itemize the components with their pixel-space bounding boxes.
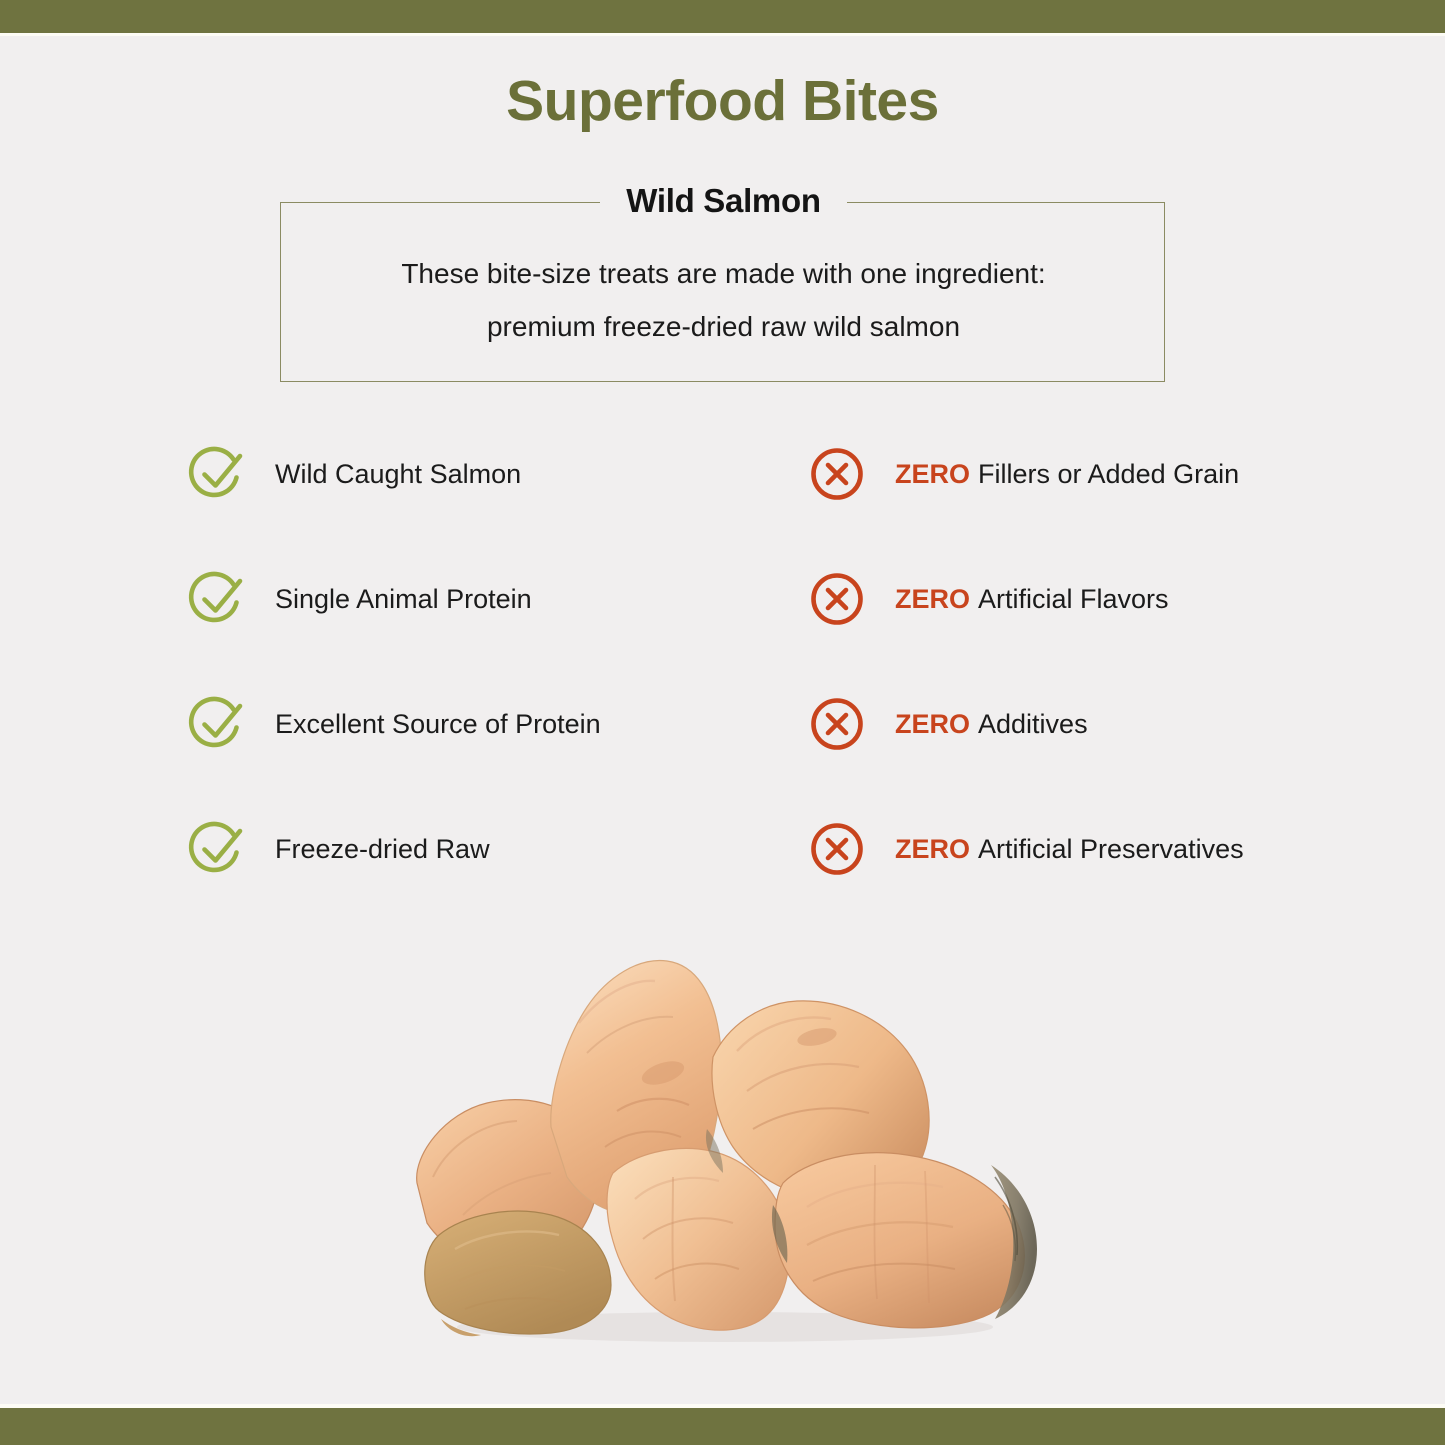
x-circle-icon [806,693,868,755]
list-item-text: Artificial Preservatives [978,834,1244,865]
list-item: ZERO Additives [806,690,1426,815]
description-line-2: premium freeze-dried raw wild salmon [281,300,1166,353]
x-circle-icon [806,818,868,880]
flavor-title-wrap: Wild Salmon [281,179,1166,223]
check-circle-icon [186,818,248,880]
list-item: ZERO Fillers or Added Grain [806,440,1426,565]
description-box: Wild Salmon These bite-size treats are m… [280,202,1165,382]
check-circle-icon [186,693,248,755]
infographic-page: Superfood Bites Wild Salmon These bite-s… [0,0,1445,1445]
check-circle-icon [186,443,248,505]
list-item-label: ZERO Fillers or Added Grain [895,440,1239,508]
list-item: Wild Caught Salmon [186,440,806,565]
list-item-text: Fillers or Added Grain [978,459,1239,490]
top-accent-bar [0,0,1445,33]
positive-feature-column: Wild Caught Salmon Single Animal Protein [186,440,806,940]
list-item-label: ZERO Artificial Flavors [895,565,1169,633]
list-item-label: ZERO Additives [895,690,1088,758]
list-item: Single Animal Protein [186,565,806,690]
description-text: These bite-size treats are made with one… [281,247,1166,353]
list-item-label: ZERO Artificial Preservatives [895,815,1244,883]
list-item-label: Excellent Source of Protein [275,690,601,758]
check-circle-icon [186,568,248,630]
zero-emphasis: ZERO [895,584,970,615]
zero-emphasis: ZERO [895,709,970,740]
list-item-text: Additives [978,709,1088,740]
negative-feature-column: ZERO Fillers or Added Grain ZERO Artific… [806,440,1426,940]
list-item-text: Artificial Flavors [978,584,1169,615]
list-item-label: Single Animal Protein [275,565,532,633]
zero-emphasis: ZERO [895,834,970,865]
x-circle-icon [806,568,868,630]
list-item-label: Wild Caught Salmon [275,440,521,508]
bottom-accent-bar [0,1408,1445,1445]
zero-emphasis: ZERO [895,459,970,490]
list-item: ZERO Artificial Flavors [806,565,1426,690]
page-title: Superfood Bites [0,68,1445,134]
list-item-label: Freeze-dried Raw [275,815,490,883]
flavor-title: Wild Salmon [600,179,846,223]
list-item: Excellent Source of Protein [186,690,806,815]
x-circle-icon [806,443,868,505]
freeze-dried-salmon-chunks-photo [355,915,1095,1345]
description-line-1: These bite-size treats are made with one… [401,258,1045,289]
